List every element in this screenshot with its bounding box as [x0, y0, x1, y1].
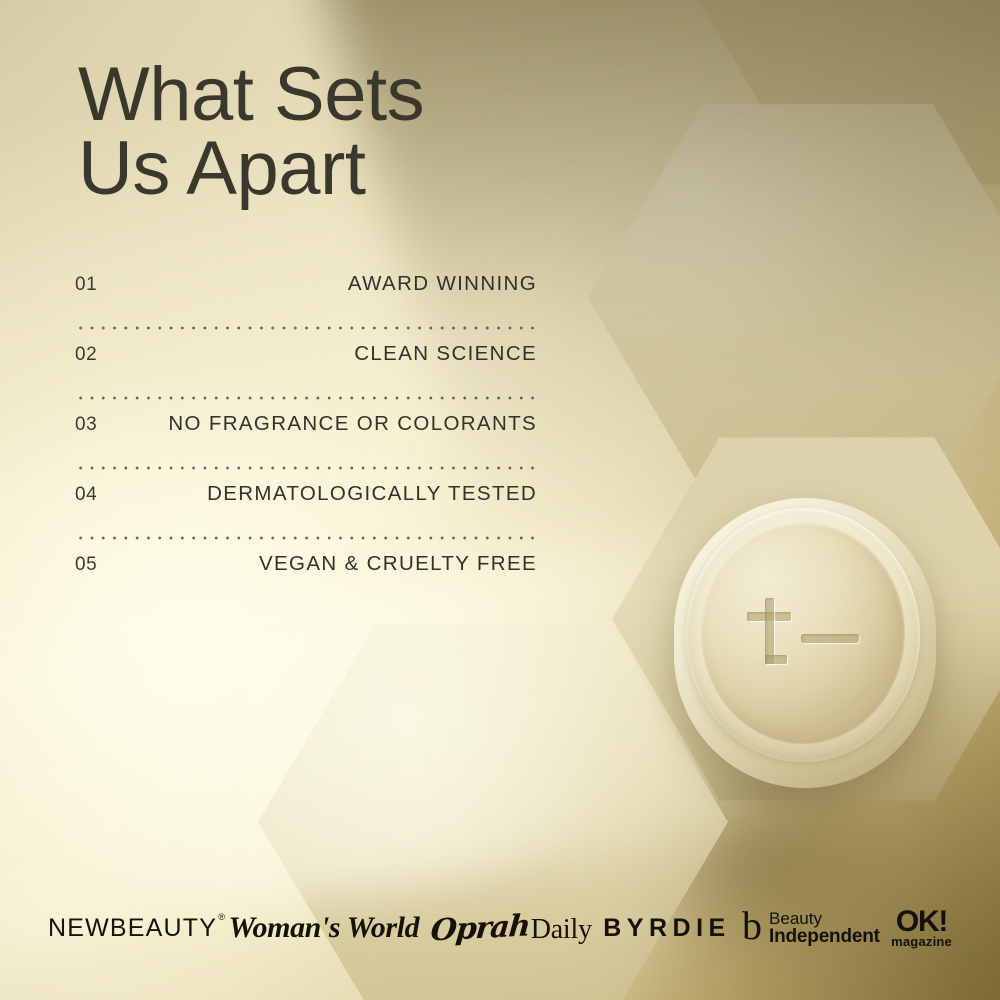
- beauty-independent-line2: Independent: [769, 927, 880, 946]
- list-divider: [75, 314, 537, 342]
- oprah-script-wordmark: Oprah: [429, 908, 531, 948]
- press-logo-byrdie: BYRDIE: [603, 914, 730, 943]
- feature-list: 01 AWARD WINNING 02 CLEAN SCIENCE 03 NO …: [75, 272, 537, 594]
- beauty-independent-b-icon: b: [742, 910, 762, 942]
- list-item-label: NO FRAGRANCE OR COLORANTS: [168, 412, 537, 436]
- list-item: 02 CLEAN SCIENCE: [75, 342, 537, 384]
- ok-magazine-subtext: magazine: [891, 936, 952, 948]
- list-item-label: VEGAN & CRUELTY FREE: [259, 552, 537, 576]
- marketing-card: What Sets Us Apart 01 AWARD WINNING 02 C…: [0, 0, 1000, 1000]
- newbeauty-wordmark: NEWBEAUTY: [48, 914, 217, 942]
- list-item-number: 01: [75, 274, 97, 296]
- list-item: 04 DERMATOLOGICALLY TESTED: [75, 482, 537, 524]
- byrdie-wordmark: BYRDIE: [603, 914, 730, 943]
- press-logo-bar: NEWBEAUTY® Woman's World Oprah Daily BYR…: [0, 900, 1000, 956]
- page-title: What Sets Us Apart: [78, 58, 424, 205]
- registered-mark-icon: ®: [218, 912, 226, 922]
- list-item: 01 AWARD WINNING: [75, 272, 537, 314]
- beauty-independent-line1: Beauty: [769, 910, 880, 927]
- list-item-number: 04: [75, 484, 97, 506]
- jar-lid: [701, 522, 905, 744]
- list-item: 05 VEGAN & CRUELTY FREE: [75, 552, 537, 594]
- press-logo-beauty-independent: b Beauty Independent: [742, 910, 880, 947]
- press-logo-ok-magazine: OK! magazine: [891, 908, 952, 948]
- press-logo-womans-world: Woman's World: [228, 911, 419, 945]
- press-logo-oprah-daily: Oprah Daily: [431, 911, 592, 946]
- womans-world-wordmark: Woman's World: [228, 911, 419, 945]
- list-divider: [75, 384, 537, 412]
- product-jar: [674, 498, 936, 788]
- list-divider: [75, 524, 537, 552]
- logo-t-stem: [765, 598, 774, 664]
- logo-dash: [801, 634, 859, 643]
- list-divider: [75, 454, 537, 482]
- list-item-number: 05: [75, 554, 97, 576]
- daily-wordmark: Daily: [531, 914, 592, 946]
- list-item-number: 03: [75, 414, 97, 436]
- list-item-label: AWARD WINNING: [348, 272, 537, 296]
- brand-logo-icon: [739, 596, 867, 670]
- list-item: 03 NO FRAGRANCE OR COLORANTS: [75, 412, 537, 454]
- ok-wordmark: OK!: [896, 908, 947, 936]
- list-item-number: 02: [75, 344, 97, 366]
- list-item-label: CLEAN SCIENCE: [354, 342, 537, 366]
- list-item-label: DERMATOLOGICALLY TESTED: [207, 482, 537, 506]
- press-logo-newbeauty: NEWBEAUTY®: [48, 914, 217, 943]
